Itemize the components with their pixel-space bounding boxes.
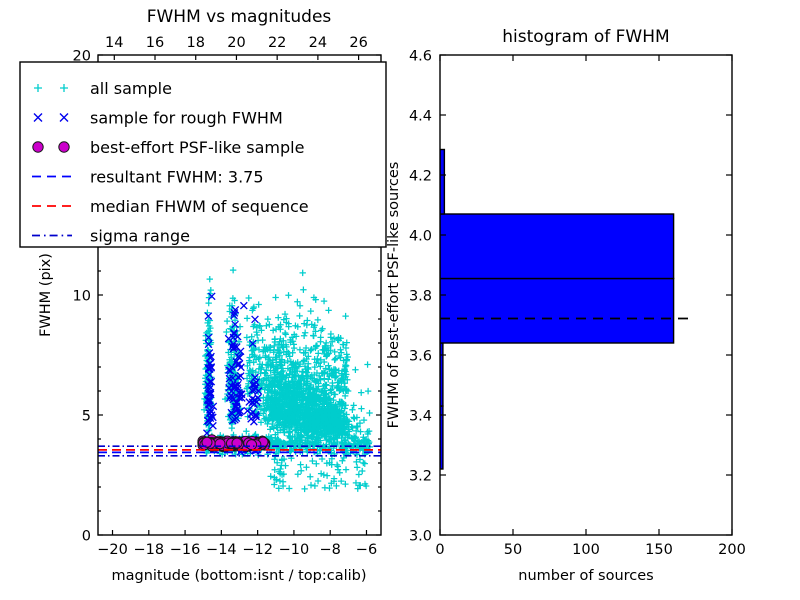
left-x-tick-label: −8 xyxy=(320,542,341,558)
right-y-tick-label: 3.8 xyxy=(409,289,432,305)
left-x-top-tick-label: 16 xyxy=(146,35,164,51)
legend-item-label: median FHWM of sequence xyxy=(90,197,309,216)
histogram-bar xyxy=(440,279,674,344)
left-y-axis-label: FWHM (pix) xyxy=(38,253,54,337)
left-x-tick-label: −16 xyxy=(170,542,201,558)
left-panel-title: FWHM vs magnitudes xyxy=(147,7,332,27)
left-y-tick-label: 0 xyxy=(82,529,91,545)
legend-item-label: sigma range xyxy=(90,227,190,246)
right-y-axis-label: FWHM of best-effort PSF-like sources xyxy=(386,162,402,429)
legend-item-label: best-effort PSF-like sample xyxy=(90,138,304,157)
right-y-tick-label: 4.4 xyxy=(409,109,432,125)
right-y-tick-label: 3.4 xyxy=(409,409,432,425)
left-x-top-tick-label: 24 xyxy=(309,35,327,51)
right-y-tick-label: 4.2 xyxy=(409,169,432,185)
legend-item-label: resultant FWHM: 3.75 xyxy=(90,168,264,187)
right-x-tick-label: 0 xyxy=(435,542,444,558)
left-y-tick-label: 10 xyxy=(73,289,91,305)
right-x-tick-label: 50 xyxy=(504,542,522,558)
right-panel-title: histogram of FWHM xyxy=(502,27,669,47)
left-x-top-tick-label: 14 xyxy=(105,35,123,51)
right-x-tick-label: 150 xyxy=(645,542,673,558)
right-x-axis-label: number of sources xyxy=(518,568,654,584)
right-y-tick-label: 4.0 xyxy=(409,229,432,245)
right-y-tick-label: 3.0 xyxy=(409,529,432,545)
legend-item-label: sample for rough FWHM xyxy=(90,109,283,128)
dot-icon xyxy=(33,142,43,152)
legend-item-label: all sample xyxy=(90,79,172,98)
left-x-tick-label: −6 xyxy=(356,542,377,558)
left-x-top-tick-label: 20 xyxy=(227,35,245,51)
left-x-tick-label: −14 xyxy=(206,542,237,558)
dot-icon xyxy=(59,142,69,152)
left-x-tick-label: −10 xyxy=(279,542,310,558)
left-x-axis-label: magnitude (bottom:isnt / top:calib) xyxy=(111,568,366,584)
right-y-tick-label: 4.6 xyxy=(409,49,432,65)
left-x-top-tick-label: 22 xyxy=(268,35,286,51)
left-x-tick-label: −12 xyxy=(242,542,273,558)
left-x-top-tick-label: 26 xyxy=(349,35,367,51)
left-x-tick-label: −18 xyxy=(133,542,164,558)
left-x-tick-label: −20 xyxy=(97,542,128,558)
right-x-tick-label: 200 xyxy=(718,542,746,558)
right-x-tick-label: 100 xyxy=(572,542,600,558)
figure-canvas: FWHM vs magnitudes xyxy=(0,0,800,600)
histogram-bar xyxy=(440,214,674,279)
legend: all samplesample for rough FWHMbest-effo… xyxy=(20,62,386,247)
matplotlib-figure: FWHM vs magnitudes xyxy=(0,0,800,600)
left-y-tick-label: 5 xyxy=(82,409,91,425)
left-x-top-tick-label: 18 xyxy=(187,35,205,51)
right-y-tick-label: 3.2 xyxy=(409,469,432,485)
right-y-tick-label: 3.6 xyxy=(409,349,432,365)
